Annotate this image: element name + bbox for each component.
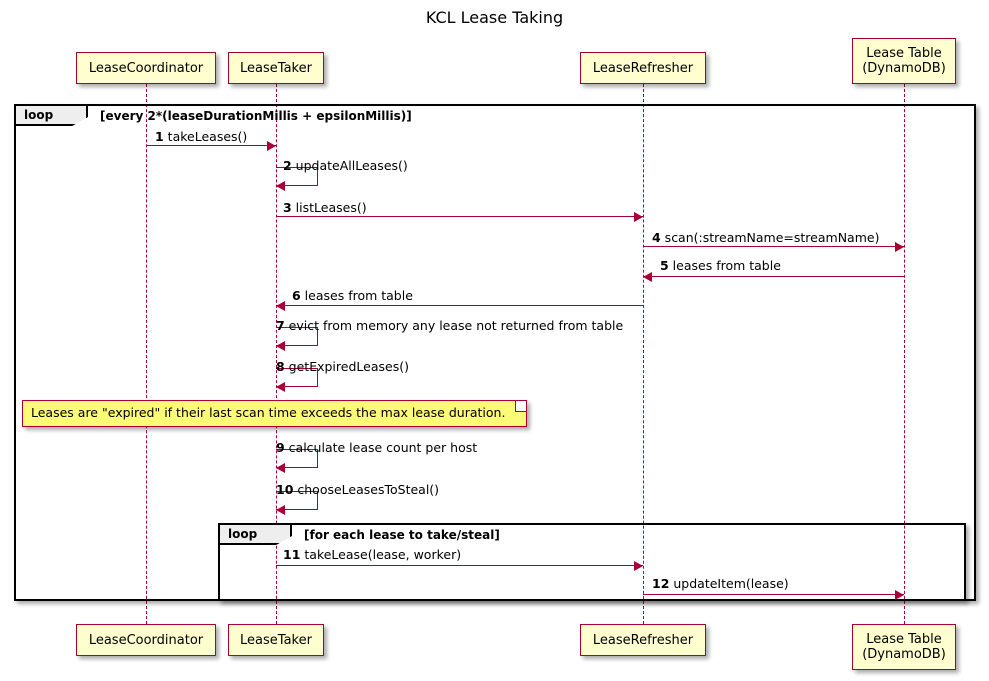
message-label-8: 8 getExpiredLeases() bbox=[276, 359, 409, 374]
participant-leasetable-top[interactable]: Lease Table(DynamoDB) bbox=[852, 38, 956, 84]
frame-condition-inner-loop: [for each lease to take/steal] bbox=[304, 528, 500, 542]
arrowhead-7 bbox=[276, 341, 285, 351]
participant-refresher-top[interactable]: LeaseRefresher bbox=[580, 52, 706, 84]
arrowhead-11 bbox=[634, 561, 643, 571]
message-line-6 bbox=[276, 305, 643, 306]
message-line-12 bbox=[643, 594, 904, 595]
participant-coordinator-bottom[interactable]: LeaseCoordinator bbox=[76, 624, 216, 656]
arrowhead-4 bbox=[895, 242, 904, 252]
arrowhead-1 bbox=[267, 141, 276, 151]
arrowhead-8 bbox=[276, 382, 285, 392]
arrowhead-3 bbox=[634, 212, 643, 222]
participant-coordinator-top[interactable]: LeaseCoordinator bbox=[76, 52, 216, 84]
note-fold-corner bbox=[515, 401, 526, 412]
message-label-9: 9 calculate lease count per host bbox=[276, 440, 477, 455]
message-label-10: 10 chooseLeasesToSteal() bbox=[276, 482, 439, 497]
participant-leasetable-bottom[interactable]: Lease Table(DynamoDB) bbox=[852, 624, 956, 670]
page-title: KCL Lease Taking bbox=[0, 8, 989, 27]
message-label-1: 1 takeLeases() bbox=[155, 129, 247, 144]
message-label-11: 11 takeLease(lease, worker) bbox=[283, 547, 461, 562]
message-line-11 bbox=[276, 565, 643, 566]
message-line-5 bbox=[643, 276, 904, 277]
frame-label-inner-loop: loop bbox=[220, 525, 292, 545]
message-label-5: 5 leases from table bbox=[660, 258, 781, 273]
participant-label: LeaseTaker bbox=[229, 61, 323, 76]
participant-label: LeaseTaker bbox=[229, 633, 323, 648]
message-label-4: 4 scan(:streamName=streamName) bbox=[652, 230, 879, 245]
arrowhead-5 bbox=[643, 272, 652, 282]
participant-label: Lease Table(DynamoDB) bbox=[853, 46, 955, 76]
arrowhead-12 bbox=[895, 590, 904, 600]
message-label-6: 6 leases from table bbox=[292, 288, 413, 303]
note-expired-note: Leases are "expired" if their last scan … bbox=[22, 400, 527, 427]
arrowhead-9 bbox=[276, 463, 285, 473]
message-label-3: 3 listLeases() bbox=[283, 200, 367, 215]
participant-refresher-bottom[interactable]: LeaseRefresher bbox=[580, 624, 706, 656]
participant-label: LeaseCoordinator bbox=[77, 633, 215, 648]
message-label-2: 2 updateAllLeases() bbox=[283, 158, 408, 173]
participant-taker-bottom[interactable]: LeaseTaker bbox=[228, 624, 324, 656]
message-label-7: 7 evict from memory any lease not return… bbox=[276, 318, 623, 333]
sequence-diagram: KCL Lease Taking loop[every 2*(leaseDura… bbox=[0, 0, 989, 681]
message-line-4 bbox=[643, 246, 904, 247]
participant-label: LeaseCoordinator bbox=[77, 61, 215, 76]
message-line-3 bbox=[276, 216, 643, 217]
participant-taker-top[interactable]: LeaseTaker bbox=[228, 52, 324, 84]
arrowhead-6 bbox=[276, 301, 285, 311]
arrowhead-2 bbox=[276, 181, 285, 191]
participant-label: LeaseRefresher bbox=[581, 633, 705, 648]
message-line-1 bbox=[146, 145, 276, 146]
arrowhead-10 bbox=[276, 505, 285, 515]
participant-label: Lease Table(DynamoDB) bbox=[853, 632, 955, 662]
message-label-12: 12 updateItem(lease) bbox=[652, 576, 789, 591]
frame-label-outer-loop: loop bbox=[16, 106, 88, 126]
frame-condition-outer-loop: [every 2*(leaseDurationMillis + epsilonM… bbox=[100, 109, 412, 123]
participant-label: LeaseRefresher bbox=[581, 61, 705, 76]
